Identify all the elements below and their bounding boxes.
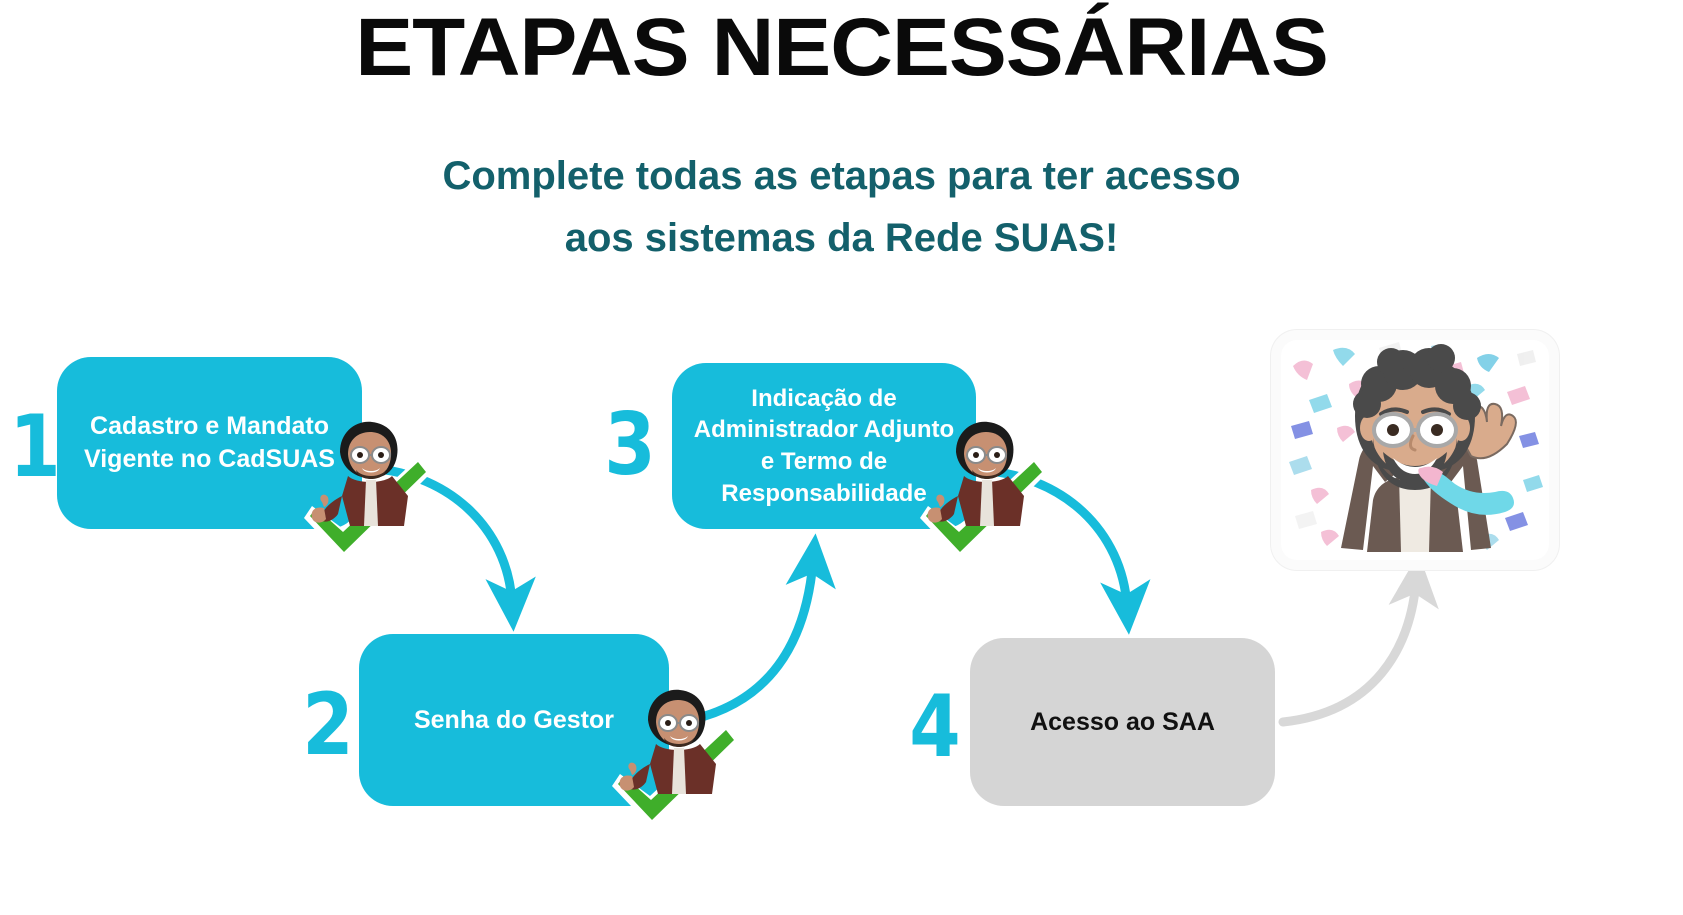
- step-number-1: 1: [9, 404, 60, 490]
- step-2-completion-sticker: [604, 678, 754, 838]
- arrow-step4-to-celebration: [1283, 582, 1416, 722]
- celebration-card: [1271, 330, 1559, 570]
- celebration-confetti-icon: [1281, 340, 1549, 560]
- step-box-2-label: Senha do Gestor: [400, 704, 628, 737]
- avatar-thumbs-up-icon: [312, 422, 408, 526]
- step-number-2: 2: [302, 682, 353, 768]
- step-number-3: 3: [604, 402, 655, 488]
- step-number-4: 4: [909, 684, 960, 770]
- step-3-completion-sticker: [912, 410, 1062, 570]
- step-box-4-label: Acesso ao SAA: [1016, 706, 1229, 739]
- step-1-completion-sticker: [296, 410, 446, 570]
- avatar-thumbs-up-icon: [928, 422, 1024, 526]
- avatar-thumbs-up-icon: [620, 690, 716, 794]
- infographic-canvas: ETAPAS NECESSÁRIAS Complete todas as eta…: [0, 0, 1683, 915]
- step-box-4[interactable]: Acesso ao SAA: [970, 638, 1275, 806]
